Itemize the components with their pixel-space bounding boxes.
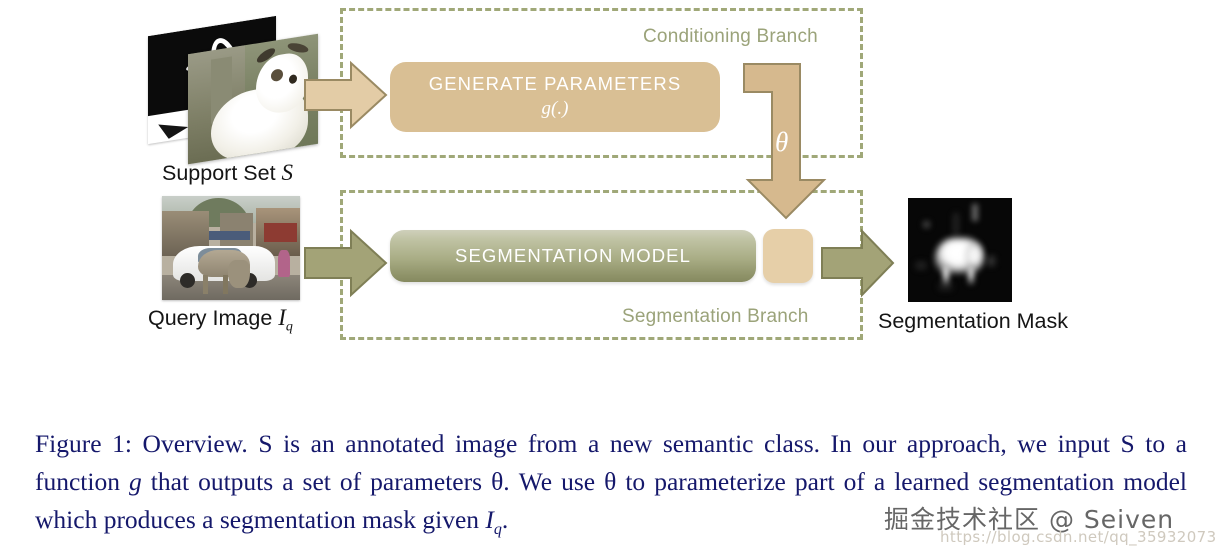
mask-cow-leg-rear-heatmap [967, 265, 974, 286]
support-to-generate-arrow [303, 60, 388, 130]
figure-caption-theta-2: θ [604, 467, 616, 496]
support-set-photo [188, 34, 318, 165]
theta-arrow-label: θ [775, 127, 788, 158]
query-cow-leg-rear [223, 275, 228, 294]
support-set-caption-symbol: S [282, 160, 294, 185]
figure-caption-g-symbol: g [129, 467, 142, 496]
mask-noise-1 [972, 204, 977, 221]
conditioning-branch-label: Conditioning Branch [643, 26, 818, 48]
figure-caption-theta-1: θ [491, 467, 503, 496]
mask-noise-4 [987, 256, 995, 265]
parameter-block [763, 229, 813, 283]
mask-noise-2 [923, 221, 930, 228]
segmentation-model-title: SEGMENTATION MODEL [455, 245, 691, 267]
generate-parameters-subtitle: g(.) [542, 98, 569, 120]
query-cow-leg-front [203, 275, 208, 294]
query-image-caption-text: Query Image [148, 306, 278, 330]
query-shop-awning [264, 223, 297, 242]
support-set-caption-text: Support Set [162, 161, 282, 185]
segmentation-mask-caption: Segmentation Mask [878, 309, 1068, 334]
photo-cow-horn-right [286, 41, 309, 54]
generate-parameters-block: GENERATE PARAMETERS g(.) [390, 62, 720, 132]
query-shop-sign [209, 231, 250, 239]
figure-caption-segment-2: that outputs a set of parameters [142, 467, 491, 496]
query-symbol-base: I [278, 305, 286, 330]
segmentation-branch-label: Segmentation Branch [622, 306, 809, 328]
generate-parameters-title: GENERATE PARAMETERS [429, 74, 682, 94]
mask-noise-5 [916, 262, 925, 268]
figure-page: Conditioning Branch Segmentation Branch [0, 0, 1224, 556]
figure-caption-segment-3: . We use [503, 467, 604, 496]
figure-caption-iq-symbol: I [485, 505, 494, 534]
query-to-segmodel-arrow [303, 228, 388, 298]
mask-corner-shape [158, 120, 188, 141]
segmodel-to-mask-arrow [820, 228, 895, 298]
figure-caption-segment-5: . [502, 505, 508, 534]
figure-caption-label: Figure 1: [35, 429, 132, 458]
query-cow-head [228, 260, 250, 287]
support-set-caption: Support Set S [162, 160, 293, 186]
query-building-middle [220, 213, 253, 248]
segmentation-model-block: SEGMENTATION MODEL [390, 230, 756, 282]
query-image-photo [162, 196, 300, 300]
mask-cow-leg-front-heatmap [942, 265, 949, 286]
query-image-caption-symbol: Iq [278, 305, 293, 330]
query-pedestrian [278, 250, 290, 277]
figure-caption-iq-subscript: q [494, 521, 502, 538]
segmentation-mask-photo [908, 198, 1012, 302]
support-set-image-stack [148, 26, 323, 156]
figure-caption: Figure 1: Overview. S is an annotated im… [35, 425, 1187, 549]
query-symbol-subscript: q [286, 320, 293, 335]
mask-noise-3 [954, 213, 958, 236]
query-image-caption: Query Image Iq [148, 305, 293, 336]
query-car-wheel-left [180, 273, 195, 288]
architecture-diagram: Conditioning Branch Segmentation Branch [0, 0, 1224, 400]
